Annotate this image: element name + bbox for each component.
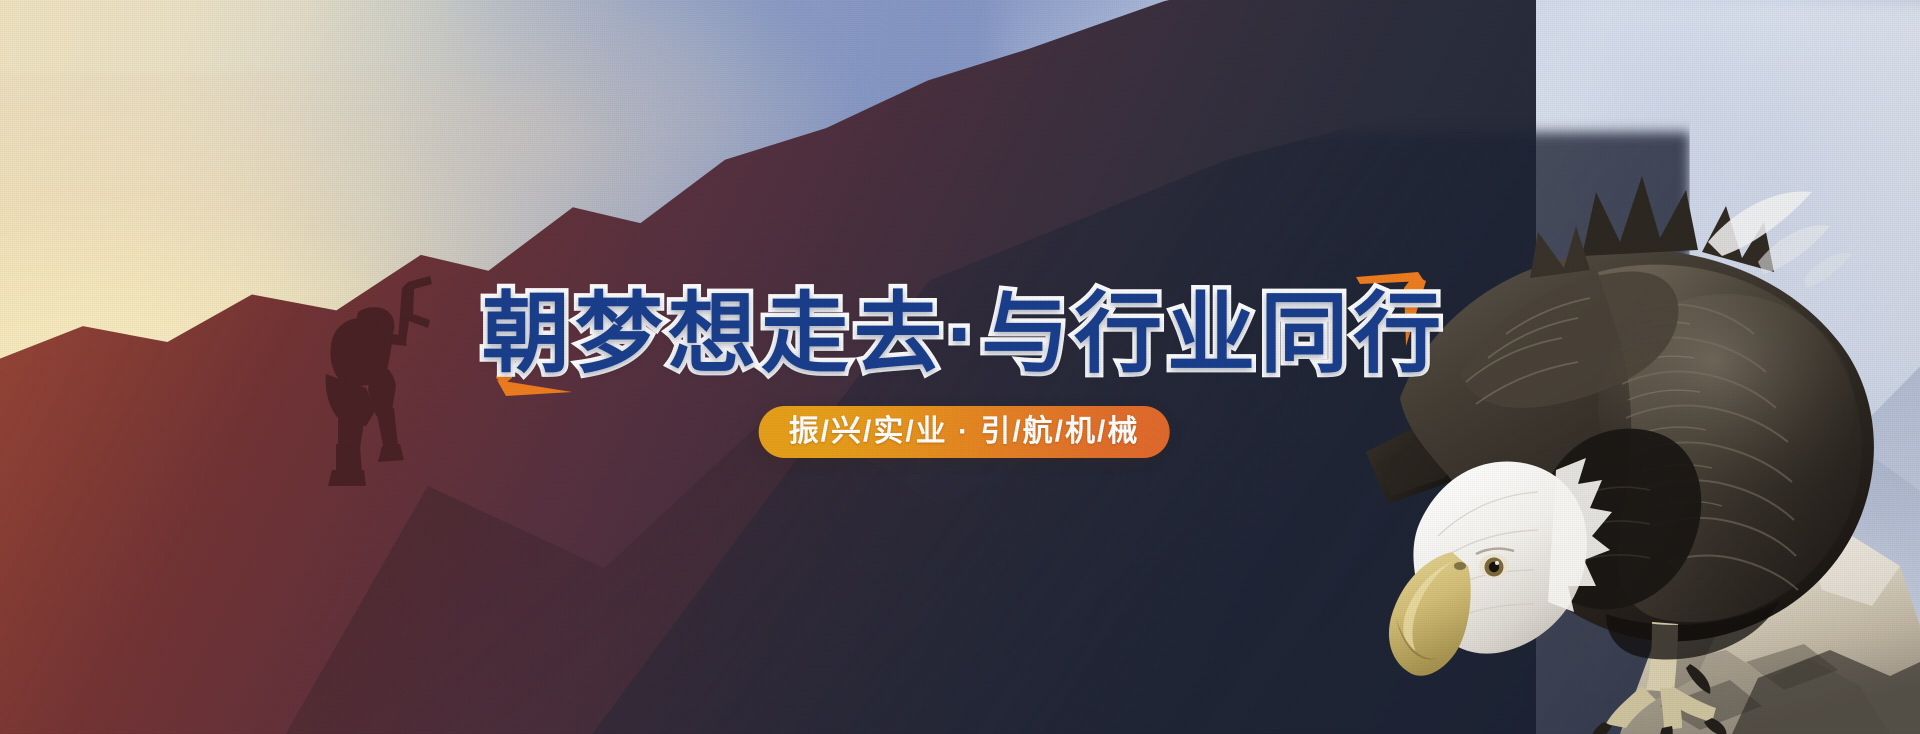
hero-banner: 朝梦想走去·与行业同行 振/兴/实/业 · 引/航/机/械 [0,0,1920,734]
eagle-beak [1389,552,1471,676]
bald-eagle-illustration [1360,66,1920,734]
banner-headline: 朝梦想走去·与行业同行 [0,290,1920,378]
eagle-nape-plumes [1582,176,1698,256]
banner-subtitle-text: 振/兴/实/业 · 引/航/机/械 [789,417,1140,447]
beak-nostril [1454,562,1466,570]
banner-subtitle-pill: 振/兴/实/业 · 引/航/机/械 [759,406,1170,458]
